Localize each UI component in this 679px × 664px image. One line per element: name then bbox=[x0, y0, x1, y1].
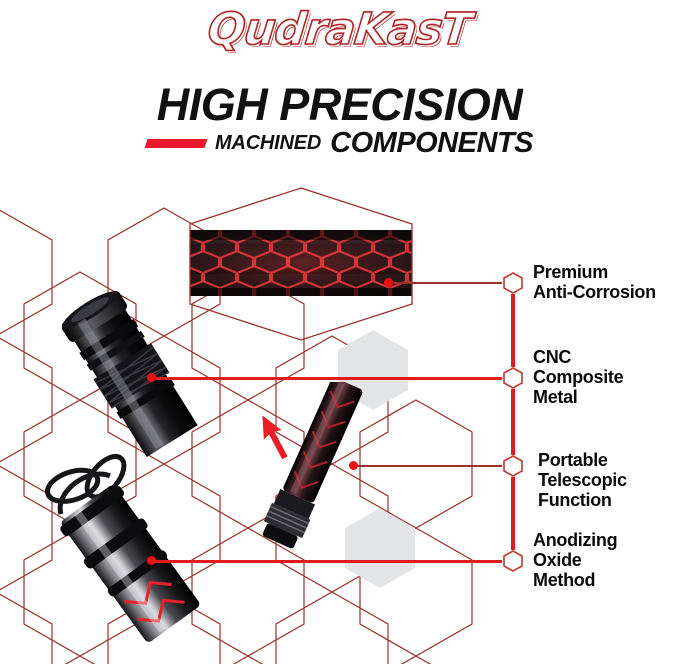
connector-line-premium-anti-corrosion bbox=[388, 282, 506, 284]
hex-marker-portable-telescopic-function[interactable] bbox=[502, 455, 524, 477]
brand-logo-text: QudraKasT bbox=[206, 4, 474, 55]
connector-vertical-rail bbox=[511, 283, 515, 561]
headline-line-1: HIGH PRECISION bbox=[0, 82, 679, 127]
feature-line: Portable bbox=[538, 450, 627, 470]
feature-line: Telescopic bbox=[538, 470, 627, 490]
page-title: HIGH PRECISION bbox=[0, 82, 679, 127]
hex-marker-cnc-composite-metal[interactable] bbox=[502, 367, 524, 389]
connector-line-cnc-composite-metal bbox=[150, 377, 506, 380]
headline-sub-large: COMPONENTS bbox=[330, 127, 533, 160]
extend-arrow-icon bbox=[254, 411, 294, 463]
brand-logo: QudraKasT bbox=[0, 4, 679, 55]
connector-line-portable-telescopic-function bbox=[352, 465, 506, 467]
feature-line: Method bbox=[533, 570, 617, 590]
feature-label-premium-anti-corrosion: Premium Anti-Corrosion bbox=[533, 262, 656, 302]
headline-sub-small: MACHINED bbox=[215, 132, 321, 155]
feature-label-anodizing-oxide-method: Anodizing Oxide Method bbox=[533, 530, 617, 590]
connector-dot-cnc-composite-metal bbox=[147, 373, 156, 382]
hex-marker-anodizing-oxide-method[interactable] bbox=[502, 550, 524, 572]
product-image-anodized-tube-segment bbox=[28, 452, 248, 652]
feature-line: Anti-Corrosion bbox=[533, 282, 656, 302]
connector-dot-anodizing-oxide-method bbox=[147, 556, 156, 565]
feature-label-portable-telescopic-function: Portable Telescopic Function bbox=[538, 450, 627, 510]
connector-dot-portable-telescopic-function bbox=[349, 461, 358, 470]
feature-line: Premium bbox=[533, 262, 656, 282]
feature-line: Composite bbox=[533, 367, 623, 387]
red-dash-divider bbox=[145, 139, 208, 148]
headline-subline: MACHINED COMPONENTS bbox=[0, 127, 679, 160]
connector-line-anodizing-oxide-method bbox=[150, 560, 506, 563]
product-image-telescopic-baton-extended bbox=[232, 382, 392, 552]
feature-line: Metal bbox=[533, 387, 623, 407]
feature-line: Anodizing bbox=[533, 530, 617, 550]
feature-line: Function bbox=[538, 490, 627, 510]
connector-dot-premium-anti-corrosion bbox=[384, 278, 393, 287]
hex-marker-premium-anti-corrosion[interactable] bbox=[502, 272, 524, 294]
feature-line: CNC bbox=[533, 347, 623, 367]
feature-label-cnc-composite-metal: CNC Composite Metal bbox=[533, 347, 623, 407]
feature-line: Oxide bbox=[533, 550, 617, 570]
infographic-canvas: QudraKasT HIGH PRECISION MACHINED COMPON… bbox=[0, 0, 679, 664]
